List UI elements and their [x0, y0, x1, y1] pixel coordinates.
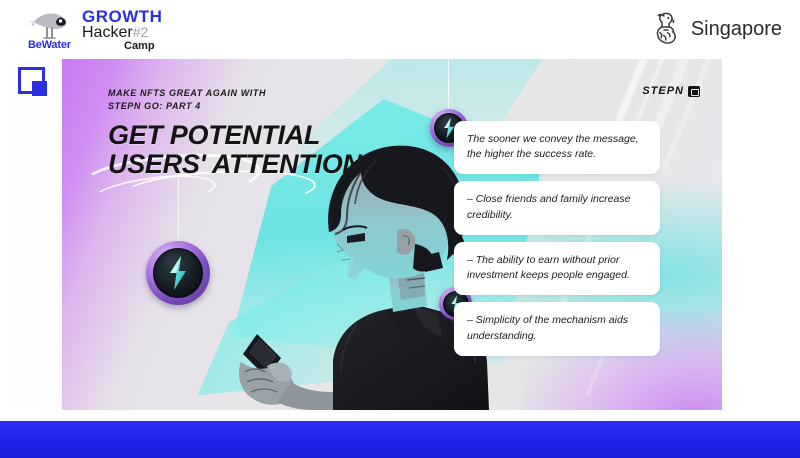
bullet-card: – Close friends and family increase cred… [454, 181, 660, 234]
presentation-slide: MAKE NFTS GREAT AGAIN WITH STEPN GO: PAR… [14, 59, 786, 410]
stepn-wordmark: STEPN [642, 85, 684, 97]
brand-hash-text: #2 [133, 24, 149, 40]
stepn-g-icon [688, 86, 700, 97]
singapore-group: Singapore [651, 8, 782, 50]
square-solid-shape [32, 81, 47, 96]
brand-camp-text: Camp [124, 41, 155, 52]
blue-squares-logo-icon [18, 67, 52, 97]
lightning-bolt-icon [165, 256, 191, 290]
bullet-card: – The ability to earn without prior inve… [454, 242, 660, 295]
stepn-badge: STEPN [642, 85, 700, 97]
merlion-icon [651, 10, 681, 48]
token-badge-large [146, 241, 210, 305]
bullet-card: – Simplicity of the mechanism aids under… [454, 302, 660, 355]
slide-right-strip [722, 59, 786, 410]
brand-bewater-text: BeWater [28, 40, 71, 51]
brand-growth-text: GROWTH [82, 8, 162, 25]
token-string-decoration [178, 177, 179, 243]
singapore-label: Singapore [691, 19, 782, 39]
bullet-card: The sooner we convey the message, the hi… [454, 121, 660, 174]
footer-bar [0, 421, 800, 458]
bullet-card-list: The sooner we convey the message, the hi… [454, 121, 660, 356]
token-string-decoration [448, 59, 449, 111]
light-streak-decoration [662, 59, 717, 170]
bewater-bird-icon [30, 8, 74, 42]
bewater-growth-hacker-logo: GROWTH Hacker#2 Camp BeWater [20, 4, 220, 54]
brand-hacker-word: Hacker [82, 24, 133, 41]
slide-page: GROWTH Hacker#2 Camp BeWater [0, 0, 800, 458]
slide-left-gutter [14, 59, 62, 410]
brand-hacker-text: Hacker#2 [82, 25, 148, 41]
header-bar: GROWTH Hacker#2 Camp BeWater [0, 0, 800, 56]
